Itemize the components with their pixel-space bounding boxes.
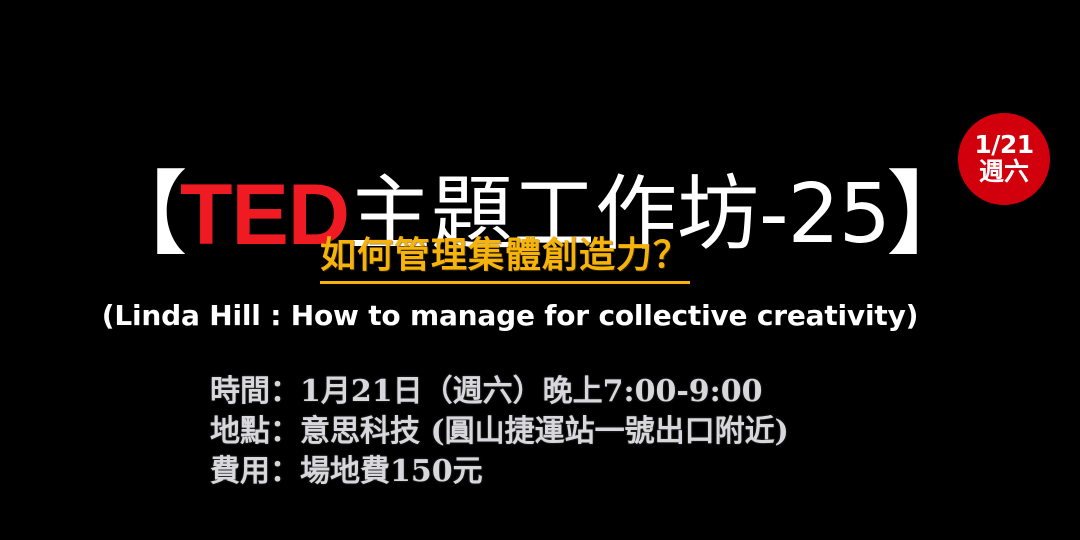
date-badge-date: 1/21 <box>974 132 1033 158</box>
date-badge: 1/21 週六 <box>958 113 1050 205</box>
event-details: 時間：1月21日（週六）晚上7:00-9:00 地點：意思科技 (圓山捷運站一號… <box>210 372 1000 492</box>
detail-line-time: 時間：1月21日（週六）晚上7:00-9:00 <box>210 372 1000 412</box>
detail-line-fee: 費用：場地費150元 <box>210 452 1000 492</box>
subtitle-english: (Linda Hill : How to manage for collecti… <box>102 299 918 333</box>
event-poster: 【TED主題工作坊-25】 1/21 週六 如何管理集體創造力？ (Linda … <box>0 0 1080 540</box>
detail-line-location: 地點：意思科技 (圓山捷運站一號出口附近) <box>210 412 1000 452</box>
date-badge-weekday: 週六 <box>979 158 1029 186</box>
subtitle-cn-container: 如何管理集體創造力？ <box>0 236 1010 284</box>
subtitle-en-container: (Linda Hill : How to manage for collecti… <box>0 299 1020 333</box>
title-row: 【TED主題工作坊-25】 <box>0 104 1080 214</box>
subtitle-chinese: 如何管理集體創造力？ <box>320 236 690 284</box>
